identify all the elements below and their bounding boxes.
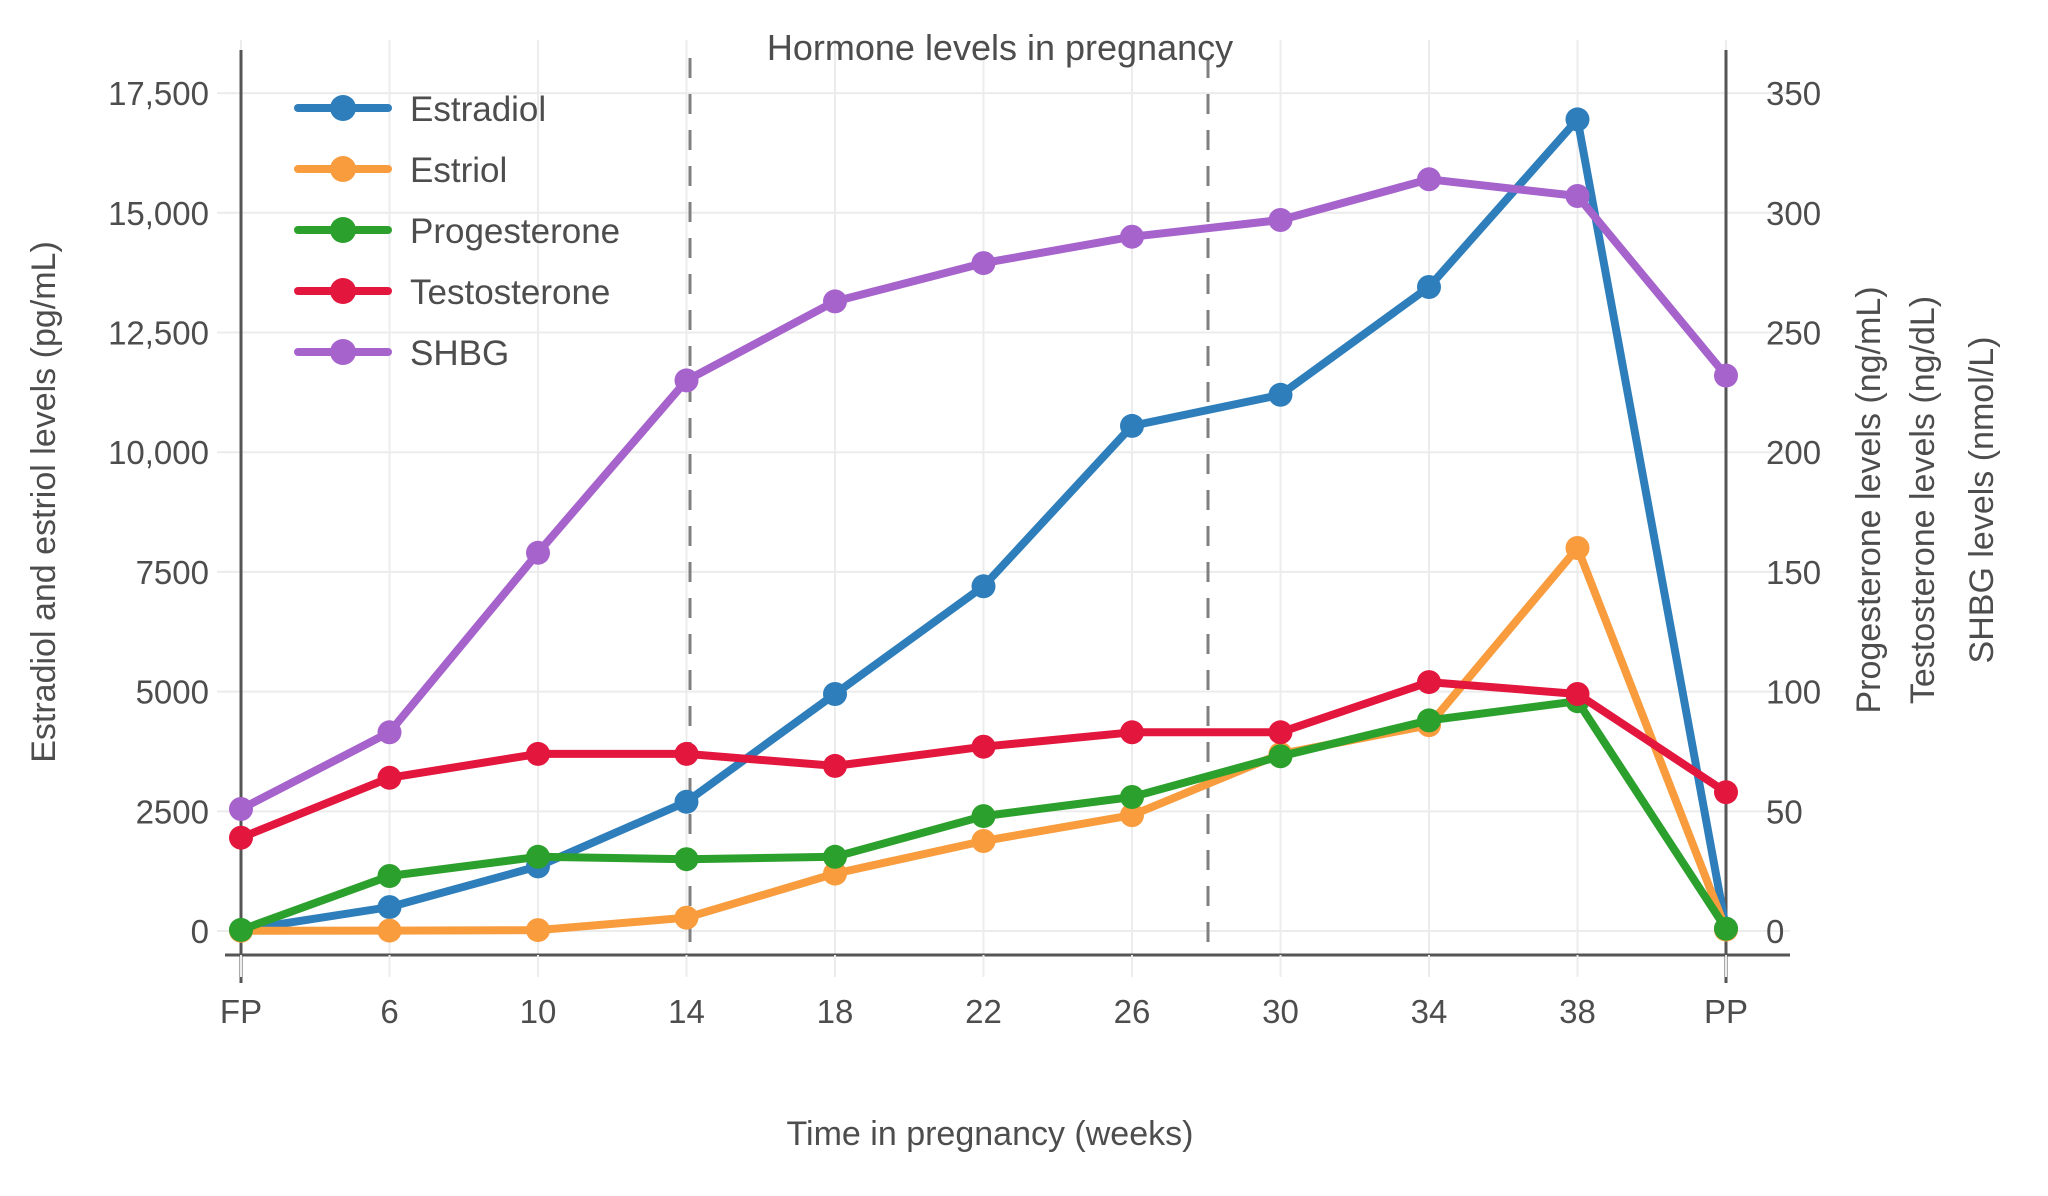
x-axis-tick-label: PP: [1704, 993, 1748, 1030]
data-point: [675, 368, 699, 392]
x-axis-tick-label: 26: [1114, 993, 1151, 1030]
right-axis-tick-label: 300: [1766, 195, 1821, 232]
data-point: [1269, 208, 1293, 232]
data-point: [675, 847, 699, 871]
legend-label: Testosterone: [410, 273, 610, 312]
legend-label: Progesterone: [410, 212, 620, 251]
legend-swatch-marker: [330, 95, 356, 121]
data-point: [1417, 275, 1441, 299]
data-point: [823, 754, 847, 778]
right-axis-tick-label: 250: [1766, 315, 1821, 352]
data-point: [1566, 184, 1590, 208]
left-axis-tick-label: 15,000: [108, 195, 209, 232]
legend-swatch-marker: [330, 339, 356, 365]
data-point: [378, 766, 402, 790]
left-axis-tick-label: 10,000: [108, 434, 209, 471]
data-point: [229, 918, 253, 942]
data-point: [823, 845, 847, 869]
x-axis-tick-label: 6: [380, 993, 398, 1030]
x-axis-tick-label: 34: [1411, 993, 1448, 1030]
data-point: [972, 829, 996, 853]
data-point: [1714, 917, 1738, 941]
right-axis-tick-label: 50: [1766, 793, 1803, 830]
x-axis-tick-label: 18: [817, 993, 854, 1030]
data-point: [1120, 720, 1144, 744]
data-point: [526, 845, 550, 869]
data-point: [823, 682, 847, 706]
data-point: [823, 289, 847, 313]
data-point: [1120, 785, 1144, 809]
data-point: [1269, 383, 1293, 407]
data-point: [1714, 780, 1738, 804]
x-axis-tick-label: 38: [1559, 993, 1596, 1030]
right-axis-tick-label: 350: [1766, 75, 1821, 112]
left-axis-tick-label: 12,500: [108, 315, 209, 352]
x-axis-tick-label: 30: [1262, 993, 1299, 1030]
legend-label: Estriol: [410, 151, 507, 190]
left-axis-tick-label: 5000: [136, 674, 209, 711]
data-point: [378, 919, 402, 943]
legend-swatch-marker: [330, 278, 356, 304]
data-point: [229, 797, 253, 821]
legend-label: Estradiol: [410, 90, 546, 129]
data-point: [675, 790, 699, 814]
right-axis-tick-label: 0: [1766, 913, 1784, 950]
data-point: [1417, 167, 1441, 191]
data-point: [675, 742, 699, 766]
legend-swatch-marker: [330, 217, 356, 243]
left-axis-tick-label: 2500: [136, 793, 209, 830]
data-point: [1269, 720, 1293, 744]
right-axis-title-shbg: SHBG levels (nmol/L): [1963, 337, 2001, 664]
data-point: [1714, 364, 1738, 388]
x-axis-tick-label: 10: [520, 993, 557, 1030]
data-point: [1566, 682, 1590, 706]
data-point: [675, 906, 699, 930]
left-axis-title: Estradiol and estriol levels (pg/mL): [25, 241, 63, 763]
x-axis-tick-label: 22: [965, 993, 1002, 1030]
data-point: [972, 735, 996, 759]
right-axis-tick-label: 100: [1766, 674, 1821, 711]
hormone-levels-line-chart: 025005000750010,00012,50015,00017,500 05…: [0, 0, 2048, 1196]
right-axis-tick-label: 150: [1766, 554, 1821, 591]
chart-container: 025005000750010,00012,50015,00017,500 05…: [0, 0, 2048, 1196]
data-point: [972, 804, 996, 828]
right-axis-tick-label: 200: [1766, 434, 1821, 471]
data-point: [1417, 708, 1441, 732]
data-point: [378, 864, 402, 888]
chart-title: Hormone levels in pregnancy: [767, 27, 1233, 68]
data-point: [526, 918, 550, 942]
data-point: [972, 251, 996, 275]
x-axis-tick-label: 14: [668, 993, 705, 1030]
left-axis-tick-label: 0: [191, 913, 209, 950]
data-point: [378, 720, 402, 744]
legend-swatch-marker: [330, 156, 356, 182]
x-axis-tick-label: FP: [220, 993, 262, 1030]
data-point: [1120, 414, 1144, 438]
data-point: [526, 742, 550, 766]
data-point: [1417, 670, 1441, 694]
right-axis-title-testosterone: Testosterone levels (ng/dL): [1904, 296, 1942, 704]
left-axis-tick-label: 17,500: [108, 75, 209, 112]
left-axis-tick-label: 7500: [136, 554, 209, 591]
data-point: [972, 574, 996, 598]
right-axis-title-progesterone: Progesterone levels (ng/mL): [1850, 286, 1888, 713]
data-point: [1566, 536, 1590, 560]
data-point: [229, 826, 253, 850]
data-point: [378, 895, 402, 919]
data-point: [526, 541, 550, 565]
x-axis-title: Time in pregnancy (weeks): [787, 1115, 1194, 1153]
legend-label: SHBG: [410, 334, 509, 373]
data-point: [1120, 225, 1144, 249]
data-point: [1566, 107, 1590, 131]
data-point: [1269, 744, 1293, 768]
